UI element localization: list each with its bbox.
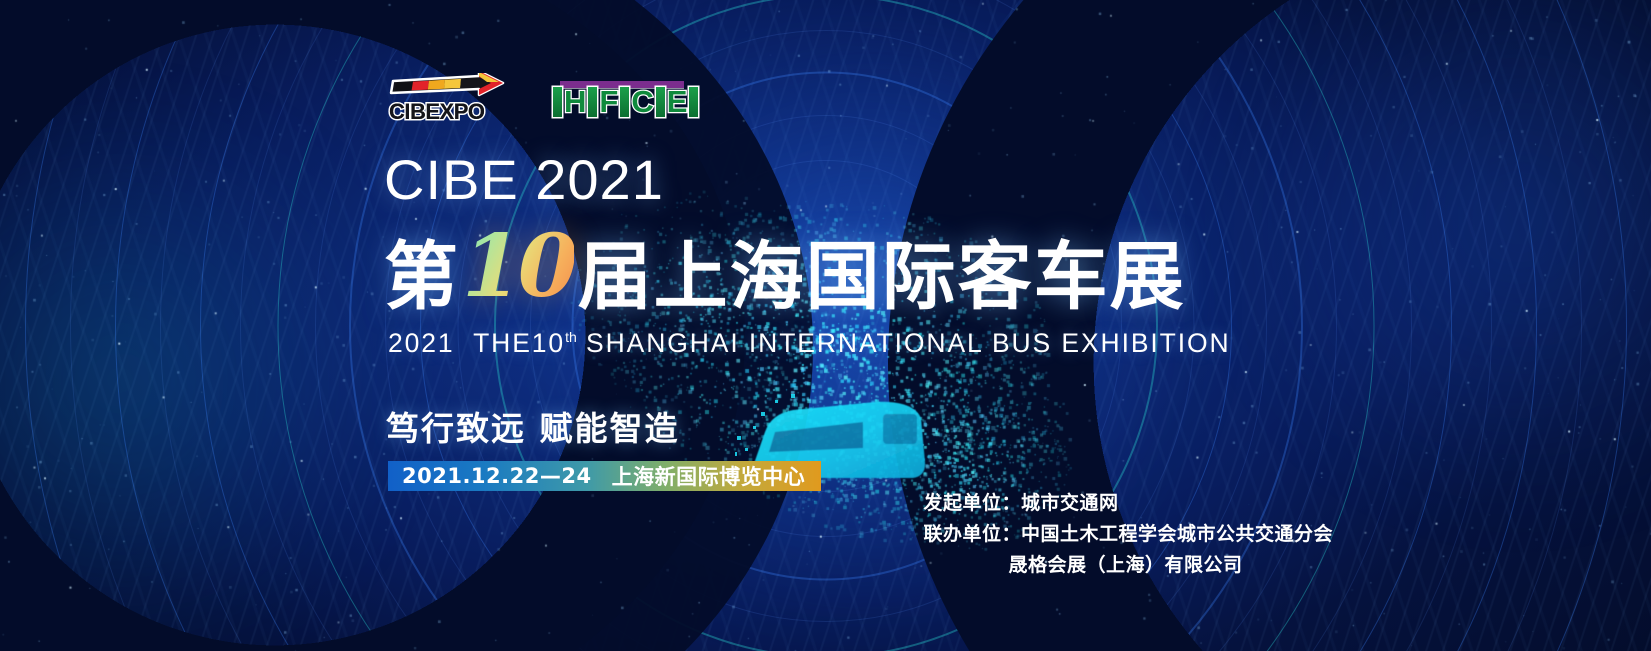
hfce-block-5: [689, 87, 698, 117]
subtitle-year: 2021: [388, 328, 455, 358]
subtitle-rest: SHANGHAI INTERNATIONAL BUS EXHIBITION: [586, 328, 1231, 358]
hfce-block-1: [553, 87, 562, 117]
hfce-block-3: [620, 87, 629, 117]
hfce-letter-c: C: [631, 86, 653, 117]
hfce-block-2: [588, 87, 597, 117]
hfce-letter-h: H: [564, 86, 586, 117]
title-chinese: 第10届上海国际客车展: [384, 224, 1186, 316]
hfce-letter-e: E: [667, 86, 688, 117]
subtitle-edition: THE10: [473, 328, 565, 358]
credit-line-company: 晟格会展（上海）有限公司: [923, 550, 1333, 581]
title-chinese-suffix: 届上海国际客车展: [578, 217, 1186, 324]
cibexpo-wordmark: CIBEXPO CIBEXPO: [389, 99, 485, 125]
title-english: CIBE 2021: [384, 147, 664, 212]
hfce-letter-f: F: [599, 86, 618, 117]
title-edition-number: 10: [462, 216, 574, 317]
cibe-2021-promotional-banner: CIBEXPO CIBEXPO H F C E CI: [0, 0, 1651, 651]
hfce-logo: H F C E: [550, 78, 684, 124]
credit-line-coorganizer: 联办单位：中国土木工程学会城市公共交通分会: [923, 519, 1333, 550]
hfce-block-4: [656, 87, 665, 117]
event-venue: 上海新国际博览中心: [612, 461, 806, 491]
date-venue-bar: 2021.12.22—24 上海新国际博览中心: [388, 461, 821, 491]
cibexpo-wordmark-inner: CIBEXPO: [389, 99, 485, 125]
organizer-credits: 发起单位：城市交通网 联办单位：中国土木工程学会城市公共交通分会 晟格会展（上海…: [923, 488, 1333, 581]
cibexpo-logo: CIBEXPO CIBEXPO: [383, 75, 508, 127]
subtitle-english: 2021 THE10th SHANGHAI INTERNATIONAL BUS …: [388, 328, 1231, 359]
event-date: 2021.12.22—24: [402, 464, 592, 488]
credit-line-initiator: 发起单位：城市交通网: [923, 488, 1333, 519]
slogan-text: 笃行致远 赋能智造: [386, 402, 680, 450]
logo-row: CIBEXPO CIBEXPO H F C E: [383, 75, 684, 127]
subtitle-ordinal: th: [565, 329, 577, 345]
hfce-letters: H F C E: [552, 86, 699, 117]
title-chinese-prefix: 第: [384, 217, 460, 324]
